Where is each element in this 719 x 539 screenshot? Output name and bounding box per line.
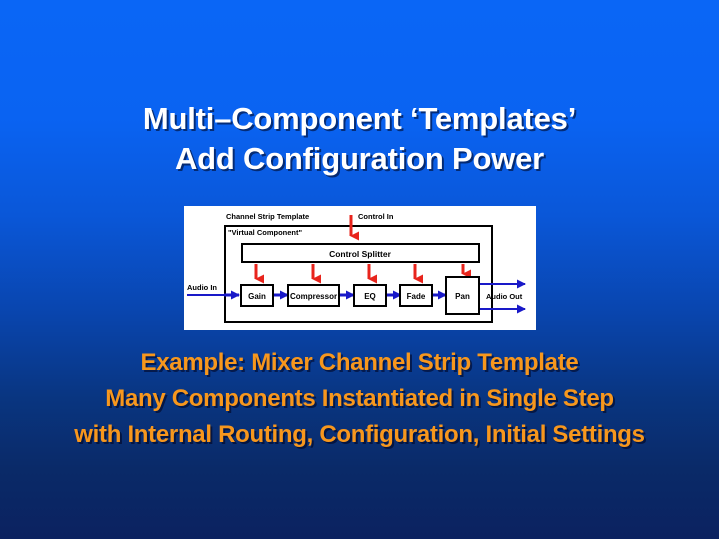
channel-strip-diagram: Channel Strip Template "Virtual Componen… [184,206,536,330]
caption-line-1: Example: Mixer Channel Strip Template [0,345,719,381]
slide-canvas: Multi–Component ‘Templates’ Add Configur… [0,0,719,539]
label-template-title: Channel Strip Template [226,212,309,221]
label-audio-out: Audio Out [486,292,523,301]
title-line-1: Multi–Component ‘Templates’ [0,99,719,139]
label-component-pan: Pan [455,292,470,301]
label-control-splitter: Control Splitter [329,249,392,259]
label-virtual-component: "Virtual Component" [228,228,303,237]
label-control-in: Control In [358,212,394,221]
slide-caption: Example: Mixer Channel Strip Template Ma… [0,345,719,453]
label-audio-in: Audio In [187,283,217,292]
label-component-eq: EQ [364,292,376,301]
label-component-compressor: Compressor [290,292,337,301]
caption-line-3: with Internal Routing, Configuration, In… [0,417,719,453]
label-component-fade: Fade [407,292,426,301]
slide-title: Multi–Component ‘Templates’ Add Configur… [0,99,719,179]
caption-line-2: Many Components Instantiated in Single S… [0,381,719,417]
title-line-2: Add Configuration Power [0,139,719,179]
label-component-gain: Gain [248,292,266,301]
